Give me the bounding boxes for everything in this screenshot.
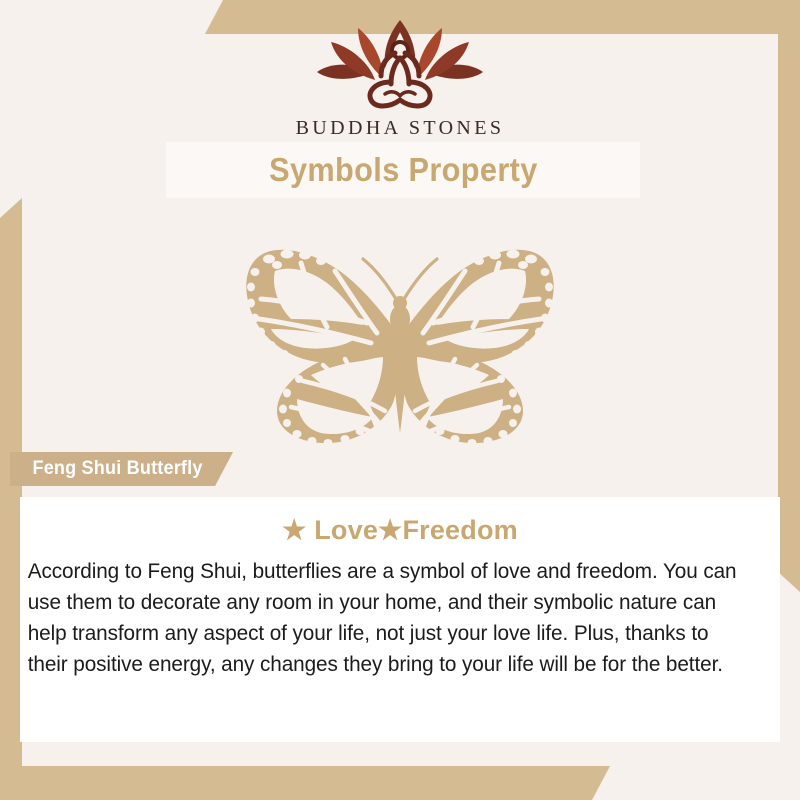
status-badge: Feng Shui Butterfly [10, 452, 233, 486]
content-panel: ★ Love★Freedom According to Feng Shui, b… [20, 497, 780, 742]
product-infographic-page: BUDDHA STONES Symbols Property [0, 0, 800, 800]
brand-name: BUDDHA STONES [296, 117, 505, 140]
title-strip: Symbols Property [166, 142, 640, 198]
decorative-band-bottom [0, 766, 610, 800]
page-title: Symbols Property [269, 151, 538, 189]
label-banner-text: Feng Shui Butterfly [32, 458, 202, 480]
illustration-area [0, 206, 800, 464]
brand-header: BUDDHA STONES [0, 0, 800, 140]
content-paragraph: According to Feng Shui, butterflies are … [20, 546, 753, 680]
lotus-meditation-figure-icon [311, 18, 489, 115]
butterfly-icon [215, 215, 585, 455]
content-subhead: ★ Love★Freedom [20, 497, 780, 546]
